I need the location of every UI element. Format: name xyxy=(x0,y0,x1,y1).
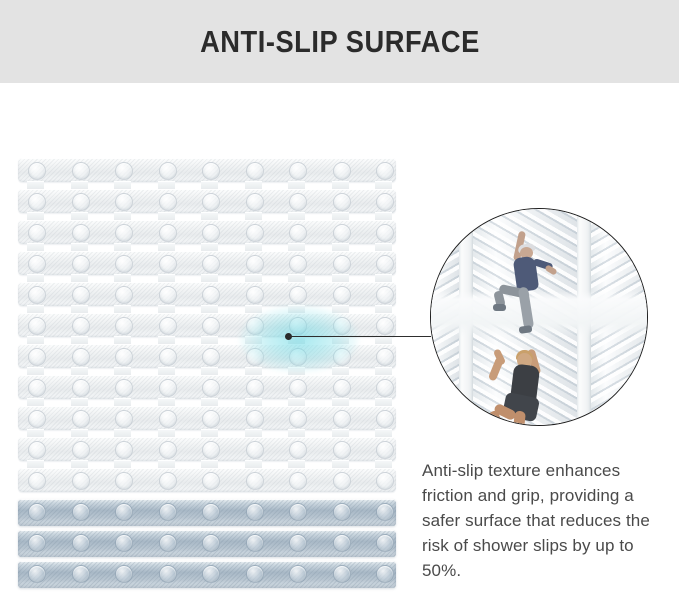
mat-slat-row xyxy=(18,344,396,368)
mat-ring-detail xyxy=(246,472,264,490)
mat-slat-row xyxy=(18,282,396,306)
mat-ring-detail xyxy=(28,255,46,273)
mat-ring-detail xyxy=(159,441,177,459)
mat-ring-detail xyxy=(289,379,307,397)
climber-figure-upper xyxy=(493,231,559,339)
mat-ring-detail xyxy=(376,441,394,459)
mat-slat-row xyxy=(18,468,396,492)
mat-ring-detail xyxy=(289,255,307,273)
mat-ring-detail xyxy=(333,534,351,552)
mat-ring-detail xyxy=(289,534,307,552)
mat-ring-detail xyxy=(115,255,133,273)
mat-ring-detail xyxy=(115,379,133,397)
mat-ring-detail xyxy=(28,565,46,583)
mat-ring-detail xyxy=(115,224,133,242)
mat-ring-detail xyxy=(159,410,177,428)
mat-slat-row xyxy=(18,251,396,275)
mat-ring-detail xyxy=(202,472,220,490)
mat-ring-detail xyxy=(333,348,351,366)
mat-ring-detail xyxy=(376,162,394,180)
mat-ring-detail xyxy=(28,286,46,304)
mat-slat-row xyxy=(18,313,396,337)
mat-ring-detail xyxy=(333,379,351,397)
mat-ring-detail xyxy=(333,317,351,335)
mat-ring-detail xyxy=(376,534,394,552)
mat-ring-detail xyxy=(202,255,220,273)
mat-slat-row xyxy=(18,437,396,461)
mat-ring-detail xyxy=(289,224,307,242)
mat-ring-detail xyxy=(376,348,394,366)
mat-slat-row-tinted xyxy=(18,530,396,554)
mat-ring-detail xyxy=(28,379,46,397)
mat-ring-detail xyxy=(159,472,177,490)
mat-ring-detail xyxy=(202,162,220,180)
magnifier-content xyxy=(431,209,647,425)
mat-ring-detail xyxy=(115,565,133,583)
mat-ring-detail xyxy=(159,224,177,242)
mat-ring-detail xyxy=(246,317,264,335)
mat-ring-detail xyxy=(159,162,177,180)
mat-ring-detail xyxy=(159,286,177,304)
mat-ring-detail xyxy=(376,286,394,304)
mat-ring-detail xyxy=(115,472,133,490)
mat-ring-detail xyxy=(28,162,46,180)
mat-ring-detail xyxy=(376,565,394,583)
mat-ring-detail xyxy=(28,534,46,552)
mat-ring-detail xyxy=(72,565,90,583)
mat-ring-detail xyxy=(246,410,264,428)
mat-ring-detail xyxy=(202,348,220,366)
description-text: Anti-slip texture enhances friction and … xyxy=(422,458,674,583)
mat-ring-detail xyxy=(72,534,90,552)
mat-ring-detail xyxy=(289,472,307,490)
mat-ring-detail xyxy=(72,379,90,397)
mat-ring-detail xyxy=(333,565,351,583)
mat-ring-detail xyxy=(72,224,90,242)
mat-slat-row xyxy=(18,406,396,430)
mat-ring-detail xyxy=(246,224,264,242)
mat-ring-detail xyxy=(246,565,264,583)
climber-figure-lower xyxy=(486,337,562,426)
mat-ring-detail xyxy=(333,441,351,459)
mat-ring-detail xyxy=(246,441,264,459)
mat-ring-detail xyxy=(202,503,220,521)
mat-ring-detail xyxy=(289,286,307,304)
mat-ring-detail xyxy=(202,286,220,304)
mat-ring-detail xyxy=(333,410,351,428)
mat-ring-detail xyxy=(28,224,46,242)
mat-ring-detail xyxy=(72,348,90,366)
mat-ring-detail xyxy=(159,565,177,583)
mat-ring-detail xyxy=(115,317,133,335)
mat-ring-detail xyxy=(333,503,351,521)
page-title: ANTI-SLIP SURFACE xyxy=(200,24,480,60)
mat-ring-detail xyxy=(159,193,177,211)
mat-ring-detail xyxy=(115,503,133,521)
mat-ring-detail xyxy=(28,317,46,335)
mat-ring-detail xyxy=(72,503,90,521)
mat-ring-detail xyxy=(333,162,351,180)
mat-ring-detail xyxy=(72,255,90,273)
mat-ring-detail xyxy=(202,565,220,583)
mat-ring-detail xyxy=(376,224,394,242)
mat-ring-detail xyxy=(202,379,220,397)
mat-ring-detail xyxy=(246,193,264,211)
magnified-texture-view xyxy=(430,208,648,426)
mat-ring-detail xyxy=(72,286,90,304)
header-band: ANTI-SLIP SURFACE xyxy=(0,0,679,83)
mat-ring-detail xyxy=(246,534,264,552)
mat-ring-detail xyxy=(376,410,394,428)
mat-ring-detail xyxy=(246,162,264,180)
mat-ring-detail xyxy=(376,317,394,335)
mat-ring-detail xyxy=(289,503,307,521)
shower-mat-image xyxy=(18,158,396,570)
mat-ring-detail xyxy=(333,193,351,211)
mat-ring-detail xyxy=(289,162,307,180)
mat-ring-detail xyxy=(202,193,220,211)
mat-ring-detail xyxy=(289,565,307,583)
mat-ring-detail xyxy=(159,503,177,521)
mat-ring-detail xyxy=(376,472,394,490)
mat-ring-detail xyxy=(115,286,133,304)
mat-ring-detail xyxy=(289,410,307,428)
mat-ring-detail xyxy=(159,379,177,397)
mat-ring-detail xyxy=(202,441,220,459)
mat-ring-detail xyxy=(289,193,307,211)
mat-ring-detail xyxy=(28,503,46,521)
mat-ring-detail xyxy=(72,472,90,490)
mat-ring-detail xyxy=(202,534,220,552)
mat-ring-detail xyxy=(115,410,133,428)
mat-ring-detail xyxy=(72,410,90,428)
mat-ring-detail xyxy=(28,193,46,211)
mat-ring-detail xyxy=(28,441,46,459)
mat-ring-detail xyxy=(289,348,307,366)
mat-slat-row-tinted xyxy=(18,499,396,523)
mat-ring-detail xyxy=(72,317,90,335)
mat-ring-detail xyxy=(246,255,264,273)
mat-ring-detail xyxy=(159,317,177,335)
mat-ring-detail xyxy=(115,534,133,552)
mat-ring-detail xyxy=(72,162,90,180)
mat-ring-detail xyxy=(202,224,220,242)
mat-ring-detail xyxy=(376,255,394,273)
mat-ring-detail xyxy=(115,348,133,366)
mat-ring-detail xyxy=(202,317,220,335)
mat-ring-detail xyxy=(376,503,394,521)
mat-ring-detail xyxy=(159,534,177,552)
mat-ring-detail xyxy=(333,255,351,273)
mat-ring-detail xyxy=(333,286,351,304)
mat-ring-detail xyxy=(289,317,307,335)
callout-leader-line xyxy=(288,336,431,337)
mat-ring-detail xyxy=(28,410,46,428)
mat-slat-row xyxy=(18,189,396,213)
mat-ring-detail xyxy=(289,441,307,459)
infographic-page: ANTI-SLIP SURFACE xyxy=(0,0,679,595)
mat-ring-detail xyxy=(246,379,264,397)
mat-slat-row xyxy=(18,220,396,244)
mat-ring-detail xyxy=(202,410,220,428)
mat-slat-row xyxy=(18,158,396,182)
mat-ring-detail xyxy=(376,193,394,211)
mat-slat-row xyxy=(18,375,396,399)
mat-ring-detail xyxy=(246,503,264,521)
mat-ring-detail xyxy=(333,472,351,490)
mat-ring-detail xyxy=(72,441,90,459)
mat-ring-detail xyxy=(28,472,46,490)
mat-ring-detail xyxy=(376,379,394,397)
mat-ring-detail xyxy=(159,255,177,273)
mat-ring-detail xyxy=(333,224,351,242)
mat-ring-detail xyxy=(246,348,264,366)
mat-ring-detail xyxy=(115,162,133,180)
mat-ring-detail xyxy=(115,193,133,211)
mat-slat-row-tinted xyxy=(18,561,396,585)
mat-ring-detail xyxy=(115,441,133,459)
mat-ring-detail xyxy=(72,193,90,211)
mat-ring-detail xyxy=(246,286,264,304)
mat-ring-detail xyxy=(28,348,46,366)
mat-ring-detail xyxy=(159,348,177,366)
